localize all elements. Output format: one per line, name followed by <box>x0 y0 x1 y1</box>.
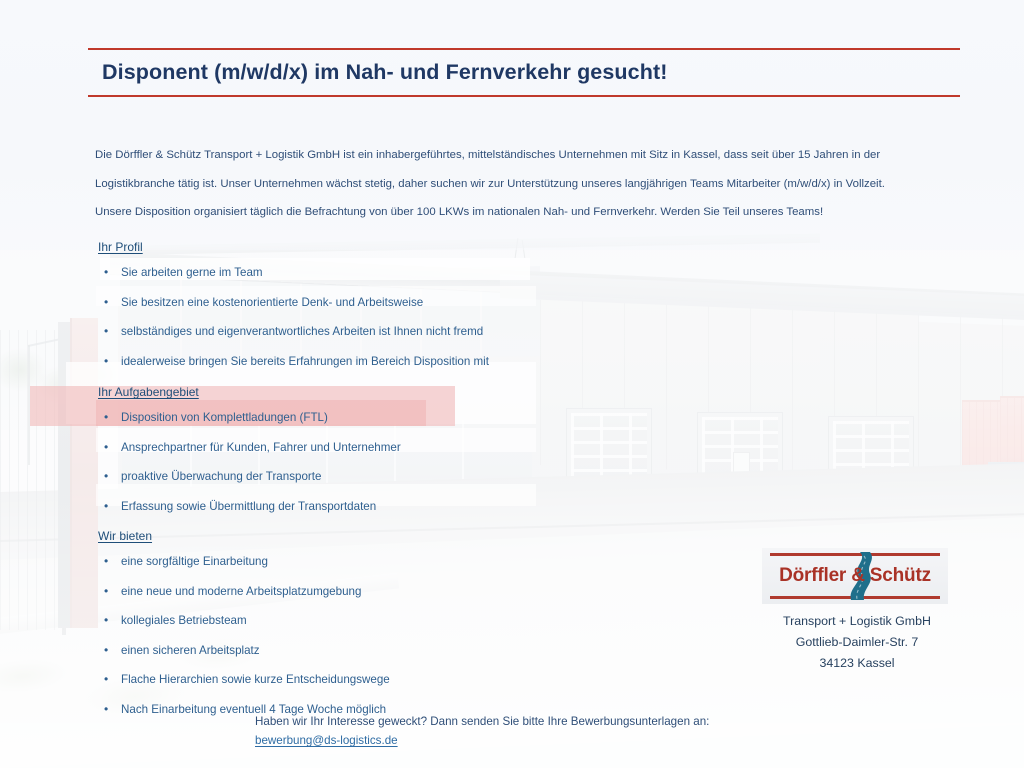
list-item: Flache Hierarchien sowie kurze Entscheid… <box>95 670 565 690</box>
footer-cta: Haben wir Ihr Interesse geweckt? Dann se… <box>255 712 795 750</box>
list-item: eine sorgfältige Einarbeitung <box>95 552 565 572</box>
section-ihr-profil: Ihr Profil Sie arbeiten gerne im Team Si… <box>95 240 565 381</box>
intro-line-2: Logistikbranche tätig ist. Unser Unterne… <box>95 170 951 199</box>
intro-line-1: Die Dörffler & Schütz Transport + Logist… <box>95 141 951 170</box>
list-item: einen sicheren Arbeitsplatz <box>95 641 565 661</box>
section-heading: Wir bieten <box>95 529 565 543</box>
section-heading: Ihr Aufgabengebiet <box>95 385 565 399</box>
page-title: Disponent (m/w/d/x) im Nah- und Fernverk… <box>88 50 960 95</box>
company-street: Gottlieb-Daimler-Str. 7 <box>762 632 952 653</box>
company-city: 34123 Kassel <box>762 653 952 674</box>
title-block: Disponent (m/w/d/x) im Nah- und Fernverk… <box>88 48 960 97</box>
list-item: Disposition von Komplettladungen (FTL) <box>95 408 565 428</box>
company-address: Transport + Logistik GmbH Gottlieb-Daiml… <box>762 611 952 674</box>
title-rule-bottom <box>88 95 960 97</box>
company-block: Dörffler & Schütz Transport + Logistik G… <box>762 548 952 674</box>
application-email-link[interactable]: bewerbung@ds-logistics.de <box>255 734 398 747</box>
section-heading: Ihr Profil <box>95 240 565 254</box>
logo-wordmark: Dörffler & Schütz <box>762 548 948 604</box>
list-item: Sie arbeiten gerne im Team <box>95 263 565 283</box>
section-list: eine sorgfältige Einarbeitung eine neue … <box>95 552 565 720</box>
intro-paragraph: Die Dörffler & Schütz Transport + Logist… <box>95 141 951 227</box>
list-item: proaktive Überwachung der Transporte <box>95 467 565 487</box>
list-item: Ansprechpartner für Kunden, Fahrer und U… <box>95 438 565 458</box>
cta-text: Haben wir Ihr Interesse geweckt? Dann se… <box>255 712 795 731</box>
intro-line-3: Unsere Disposition organisiert täglich d… <box>95 198 951 227</box>
list-item: kollegiales Betriebsteam <box>95 611 565 631</box>
list-item: idealerweise bringen Sie bereits Erfahru… <box>95 352 565 372</box>
list-item: eine neue und moderne Arbeitsplatzumgebu… <box>95 582 565 602</box>
section-ihr-aufgabengebiet: Ihr Aufgabengebiet Disposition von Kompl… <box>95 385 565 526</box>
list-item: Erfassung sowie Übermittlung der Transpo… <box>95 497 565 517</box>
list-item: selbständiges und eigenverantwortliches … <box>95 322 565 342</box>
section-list: Sie arbeiten gerne im Team Sie besitzen … <box>95 263 565 371</box>
company-legal-name: Transport + Logistik GmbH <box>762 611 952 632</box>
list-item: Sie besitzen eine kostenorientierte Denk… <box>95 293 565 313</box>
section-wir-bieten: Wir bieten eine sorgfältige Einarbeitung… <box>95 529 565 730</box>
section-list: Disposition von Komplettladungen (FTL) A… <box>95 408 565 516</box>
job-posting-slide: Disponent (m/w/d/x) im Nah- und Fernverk… <box>0 0 1024 768</box>
company-logo: Dörffler & Schütz <box>762 548 948 604</box>
